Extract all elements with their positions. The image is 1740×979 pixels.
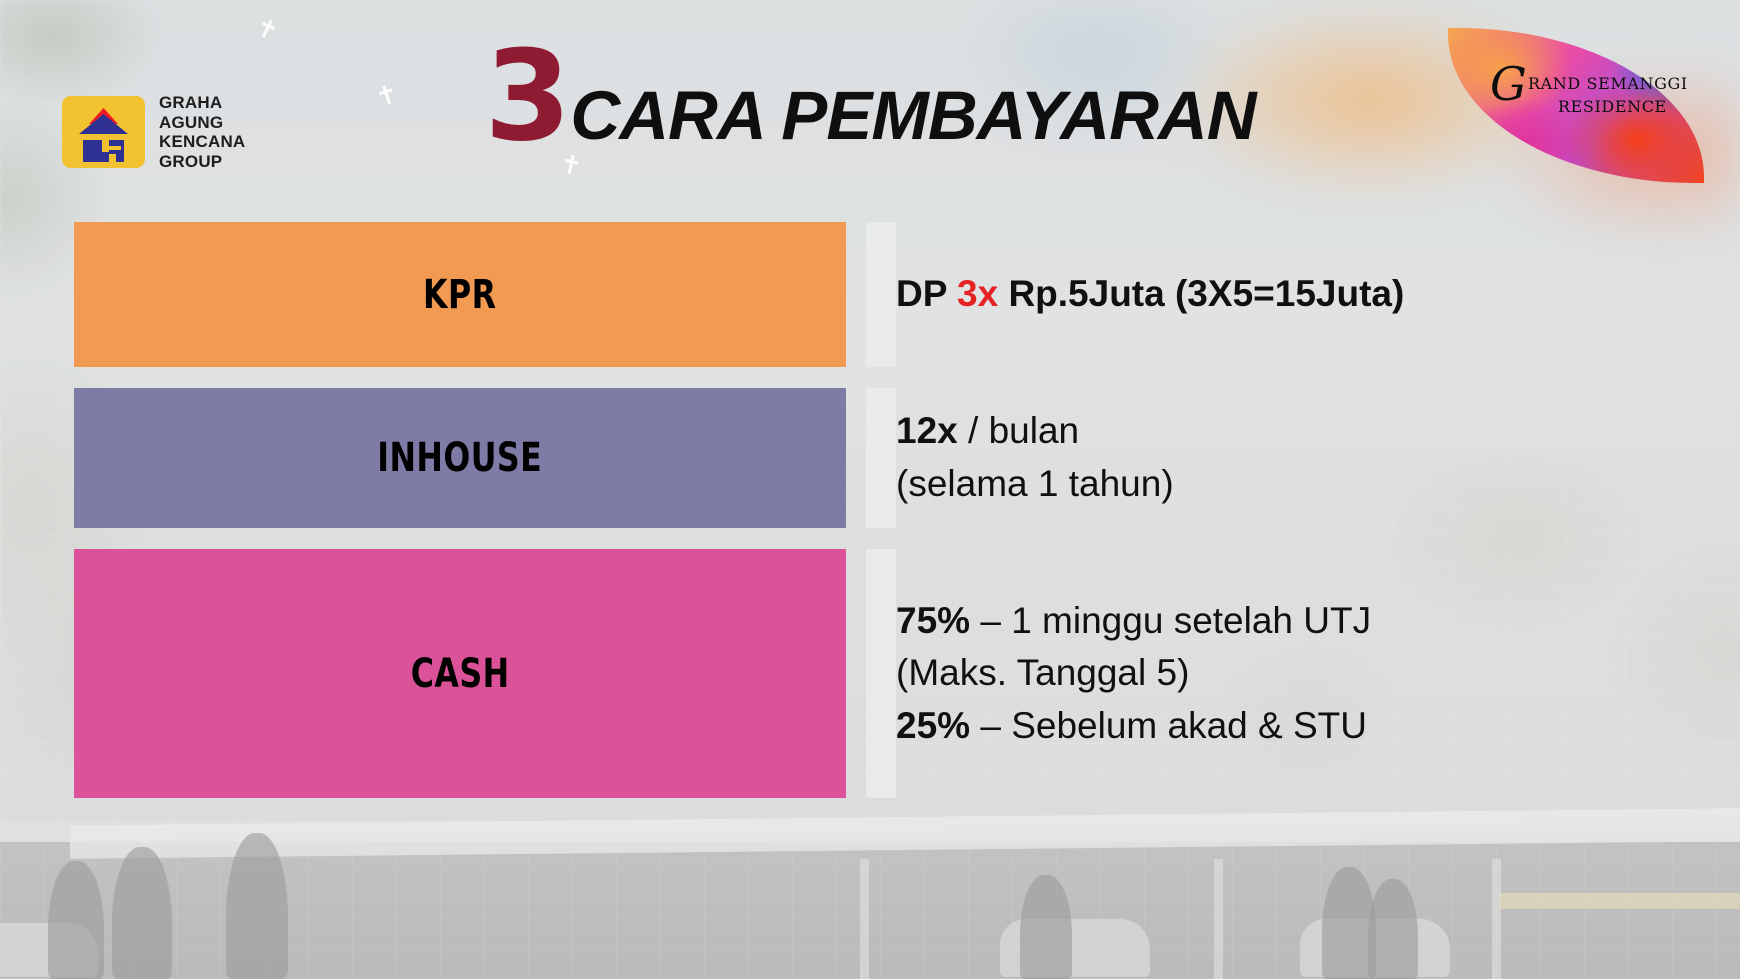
detail-segment: Rp.5Juta (3X5=15Juta) <box>998 273 1404 314</box>
payment-label-kpr[interactable]: KPR <box>74 222 846 367</box>
title-number: 3 <box>484 34 568 159</box>
detail-segment: (selama 1 tahun) <box>896 463 1174 504</box>
detail-segment: / bulan <box>958 410 1079 451</box>
payment-label-cash[interactable]: CASH <box>74 549 846 798</box>
detail-segment: 25% <box>896 705 970 746</box>
residence-logo-line-1: RAND SEMANGGI <box>1528 74 1688 93</box>
detail-segment: 75% <box>896 600 970 641</box>
payment-label-inhouse[interactable]: INHOUSE <box>74 388 846 528</box>
detail-segment: DP <box>896 273 957 314</box>
detail-segment-highlight: 3x <box>957 273 998 314</box>
detail-segment: – 1 minggu setelah UTJ <box>970 600 1371 641</box>
detail-segment: – Sebelum akad & STU <box>970 705 1367 746</box>
residence-logo-text: G RAND SEMANGGI RESIDENCE <box>1494 74 1688 116</box>
title-text: CARA PEMBAYARAN <box>570 76 1255 155</box>
detail-segment: (Maks. Tanggal 5) <box>896 652 1189 693</box>
payment-detail-cash: 75% – 1 minggu setelah UTJ (Maks. Tangga… <box>866 549 896 798</box>
slide-header: GRAHA AGUNG KENCANA GROUP 3 CARA PEMBAYA… <box>0 0 1740 210</box>
monogram-g: G <box>1490 66 1527 103</box>
payment-label-text: KPR <box>423 272 496 318</box>
payment-detail-inhouse: 12x / bulan (selama 1 tahun) <box>866 388 896 528</box>
payment-label-text: INHOUSE <box>378 435 543 481</box>
grand-semanggi-residence-logo: G RAND SEMANGGI RESIDENCE <box>1448 28 1704 183</box>
payment-label-text: CASH <box>411 651 510 697</box>
detail-segment: 12x <box>896 410 958 451</box>
payment-detail-kpr: DP 3x Rp.5Juta (3X5=15Juta) <box>866 222 896 367</box>
residence-logo-line-2: RESIDENCE <box>1558 97 1688 116</box>
